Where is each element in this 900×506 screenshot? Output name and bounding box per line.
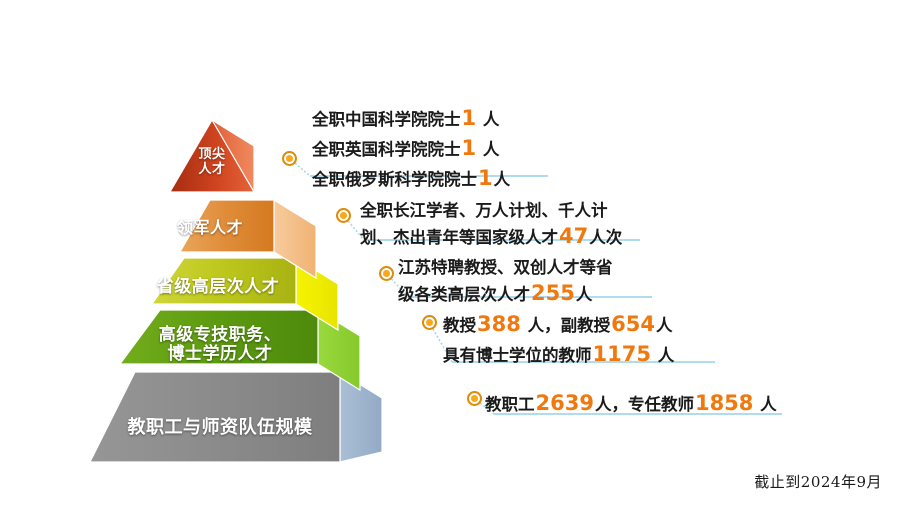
- callout-line: 教职工2639人，专任教师1858 人: [485, 389, 777, 419]
- callout-label: 全职英国科学院院士: [312, 140, 461, 159]
- callout-number: 2639: [535, 391, 595, 415]
- callout-line: 全职长江学者、万人计划、千人计: [360, 199, 622, 222]
- callout-label: 教职工: [485, 395, 535, 414]
- callout-label: 人: [477, 140, 499, 159]
- callout-text-5: 教职工2639人，专任教师1858 人: [485, 389, 777, 419]
- callout-text-2: 全职长江学者、万人计划、千人计划、杰出青年等国家级人才47人次: [360, 199, 622, 252]
- callout-label: 人: [652, 346, 674, 365]
- callout-line: 划、杰出青年等国家级人才47人次: [360, 222, 622, 252]
- footer-date: 截止到2024年9月: [754, 471, 882, 492]
- callout-label: 划、杰出青年等国家级人才: [360, 228, 558, 247]
- callout-label: 人: [754, 395, 776, 414]
- callout-number: 1175: [592, 342, 652, 366]
- callout-number: 1: [461, 136, 478, 160]
- callout-number: 47: [558, 224, 589, 248]
- callout-bullet-2[interactable]: [336, 208, 351, 223]
- callout-line: 级各类高层次人才255人: [398, 279, 613, 309]
- callout-line: 具有博士学位的教师1175 人: [443, 340, 674, 370]
- pyramid-tier-1: [170, 120, 254, 192]
- callout-number: 255: [530, 281, 576, 305]
- callout-label: 人: [656, 316, 673, 335]
- callout-bullet-1[interactable]: [282, 151, 297, 166]
- pyramid-svg: [0, 0, 460, 506]
- callout-number: 1: [477, 166, 494, 190]
- callout-label: 人，专任教师: [595, 395, 694, 414]
- callout-line: 全职英国科学院院士1 人: [312, 134, 510, 164]
- callout-label: 人: [576, 285, 593, 304]
- callout-label: 全职长江学者、万人计划、千人计: [360, 201, 608, 220]
- callout-number: 1858: [694, 391, 754, 415]
- talent-pyramid: 顶尖 人才 领军人才 省级高层次人才 高级专技职务、 博士学历人才 教职工与师资…: [0, 0, 460, 506]
- callout-bullet-4[interactable]: [422, 315, 437, 330]
- callout-bullet-3[interactable]: [379, 266, 394, 281]
- infographic-canvas: 顶尖 人才 领军人才 省级高层次人才 高级专技职务、 博士学历人才 教职工与师资…: [0, 0, 900, 506]
- callout-text-3: 江苏特聘教授、双创人才等省级各类高层次人才255人: [398, 256, 613, 309]
- callout-label: 江苏特聘教授、双创人才等省: [398, 258, 613, 277]
- callout-label: 人: [477, 110, 499, 129]
- callout-label: 人次: [589, 228, 622, 247]
- callout-number: 1: [461, 106, 478, 130]
- pyramid-tier-5: [90, 372, 382, 462]
- callout-label: 级各类高层次人才: [398, 285, 530, 304]
- callout-label: 人: [494, 170, 511, 189]
- callout-label: 具有博士学位的教师: [443, 346, 592, 365]
- callout-bullet-5[interactable]: [467, 391, 482, 406]
- callout-label: 全职中国科学院院士: [312, 110, 461, 129]
- callout-label: 教授: [443, 316, 476, 335]
- callout-line: 江苏特聘教授、双创人才等省: [398, 256, 613, 279]
- callout-text-1: 全职中国科学院院士1 人全职英国科学院院士1 人全职俄罗斯科学院院士1人: [312, 104, 510, 193]
- callout-label: 人，副教授: [522, 316, 610, 335]
- callout-line: 教授388 人，副教授654人: [443, 310, 674, 340]
- callout-label: 全职俄罗斯科学院院士: [312, 170, 477, 189]
- callout-line: 全职中国科学院院士1 人: [312, 104, 510, 134]
- callout-line: 全职俄罗斯科学院院士1人: [312, 164, 510, 194]
- callout-number: 654: [610, 312, 656, 336]
- callout-number: 388: [476, 312, 522, 336]
- callout-text-4: 教授388 人，副教授654人具有博士学位的教师1175 人: [443, 310, 674, 370]
